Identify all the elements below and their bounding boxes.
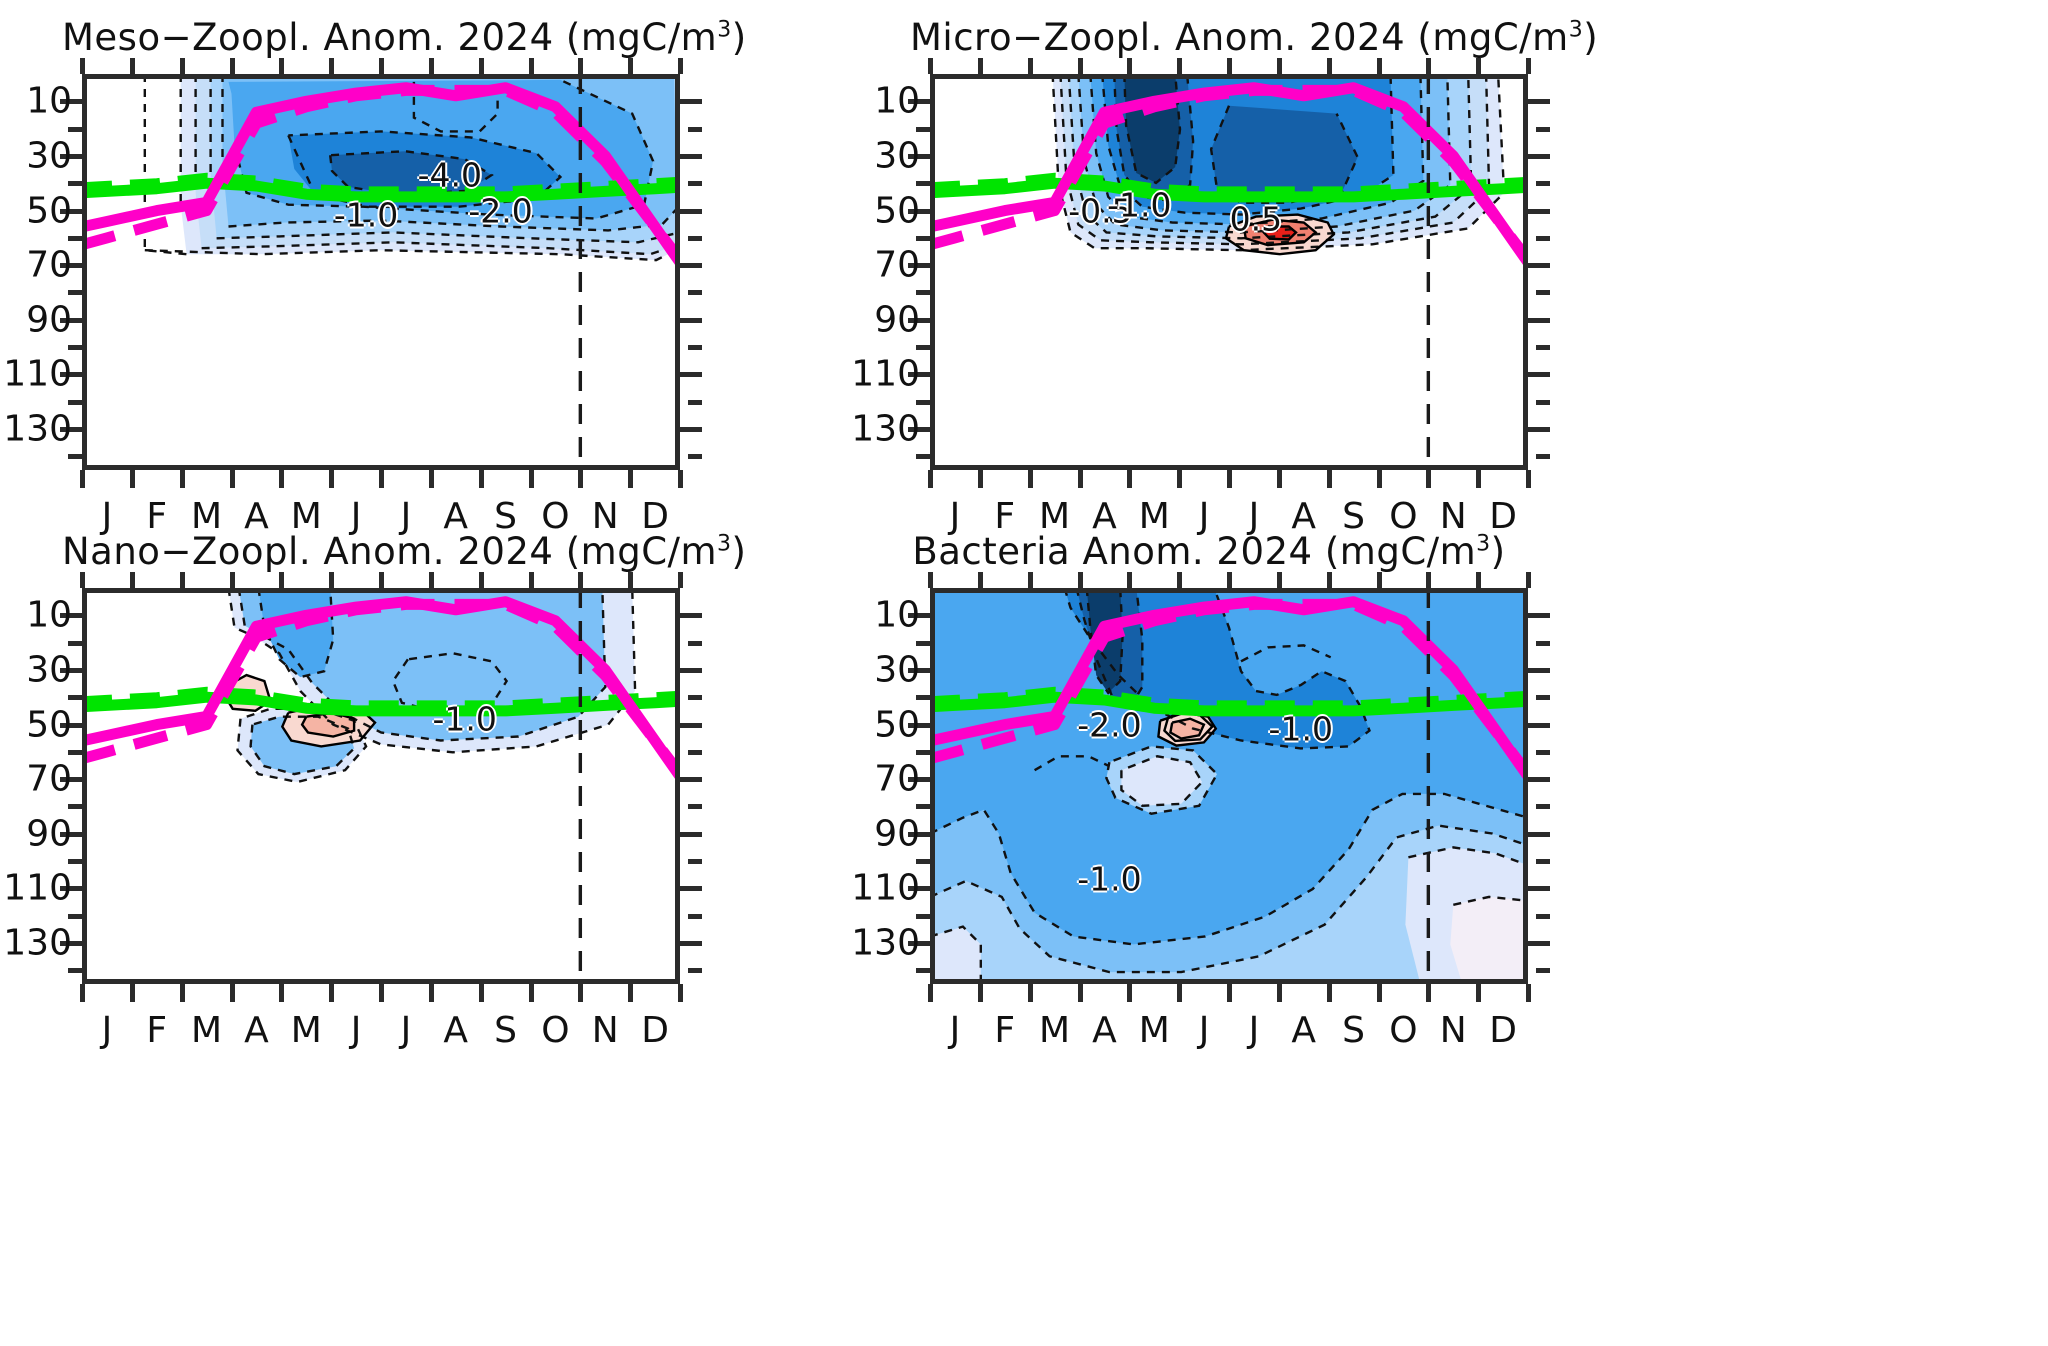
y-tick-major-right [680,154,702,159]
x-tick-bottom [1227,470,1232,488]
y-tick-minor-right [688,750,702,755]
contour-plot-svg [930,74,1528,470]
x-tick-top [578,58,583,74]
x-tick-label: A [244,1010,269,1051]
y-tick-label: 90 [26,813,72,854]
x-tick-top [1227,572,1232,588]
x-tick-top [1078,58,1083,74]
x-tick-top [429,58,434,74]
x-tick-top [329,58,334,74]
panel-title: Micro−Zoopl. Anom. 2024 (mgC/m3) [910,16,1508,59]
y-tick-major-right [680,318,702,323]
y-tick-minor-right [688,400,702,405]
x-tick-top [479,572,484,588]
x-tick-bottom [978,984,983,1002]
panel-title-exponent: 3 [717,532,732,557]
y-tick-major-right [1528,832,1550,837]
x-tick-bottom [130,470,135,488]
x-tick-label: O [541,1010,569,1051]
x-tick-top [230,572,235,588]
panel-title-exponent: 3 [1569,18,1584,43]
x-tick-bottom [1028,984,1033,1002]
y-tick-label: 50 [874,704,920,745]
y-tick-major-right [1528,209,1550,214]
contour-canvas [930,588,1528,984]
x-tick-bottom [429,984,434,1002]
contour-label: -1.0 [433,699,497,738]
x-tick-top [1377,58,1382,74]
y-tick-minor-right [1536,181,1550,186]
x-tick-bottom [80,470,85,488]
x-tick-bottom [1426,984,1431,1002]
y-tick-minor-right [688,914,702,919]
y-tick-minor-right [688,454,702,459]
plot-area: -2.0-1.0-1.0 [930,588,1528,984]
y-tick-minor-right [688,804,702,809]
x-tick-label: J [1199,1010,1210,1051]
x-tick-label: F [994,1010,1015,1051]
panel-title-text: Nano−Zoopl. Anom. 2024 (mgC/m [62,530,717,573]
x-tick-label: M [191,1010,222,1051]
x-tick-top [279,58,284,74]
contour-label: -4.0 [418,155,482,194]
y-tick-major-right [680,886,702,891]
contour-label: -1.0 [1269,709,1333,748]
y-tick-minor-right [1536,236,1550,241]
x-tick-label: S [494,1010,517,1051]
x-tick-top [1227,58,1232,74]
x-tick-bottom [230,984,235,1002]
x-tick-top [1526,58,1531,74]
x-tick-bottom [578,984,583,1002]
x-tick-label: N [1440,1010,1467,1051]
x-tick-top [1476,58,1481,74]
x-tick-bottom [1127,470,1132,488]
y-tick-minor-right [688,236,702,241]
y-tick-major-right [680,941,702,946]
y-tick-label: 130 [851,409,920,450]
y-tick-major-right [1528,427,1550,432]
contour-canvas [930,74,1528,470]
panel-title-text: Bacteria Anom. 2024 (mgC/m [912,530,1476,573]
x-tick-bottom [329,984,334,1002]
y-tick-minor-right [1536,750,1550,755]
x-tick-bottom [230,470,235,488]
panel-title-close-paren: ) [732,16,747,59]
x-tick-top [678,572,683,588]
y-tick-major-right [1528,613,1550,618]
y-tick-minor-right [688,695,702,700]
x-tick-top [628,58,633,74]
x-tick-bottom [1377,470,1382,488]
x-tick-bottom [928,470,933,488]
y-tick-major-right [680,668,702,673]
x-tick-top [130,58,135,74]
y-tick-major-right [1528,668,1550,673]
x-tick-label: N [592,1010,619,1051]
y-tick-label: 30 [874,649,920,690]
x-tick-label: O [1389,1010,1417,1051]
contour-label: -1.0 [1107,185,1171,224]
y-tick-minor-right [1536,968,1550,973]
plot-area: -1.0 [82,588,680,984]
x-tick-label: A [1092,1010,1117,1051]
x-tick-bottom [928,984,933,1002]
contour-label: -2.0 [468,191,532,230]
x-tick-top [1127,58,1132,74]
x-tick-top [928,58,933,74]
y-tick-label: 70 [26,245,72,286]
x-tick-bottom [1177,984,1182,1002]
y-tick-major-right [680,99,702,104]
x-tick-top [1078,572,1083,588]
x-tick-bottom [1377,984,1382,1002]
y-tick-major-right [680,777,702,782]
y-tick-label: 70 [874,759,920,800]
x-tick-top [279,572,284,588]
x-tick-top [230,58,235,74]
x-tick-bottom [479,984,484,1002]
y-tick-major-right [1528,941,1550,946]
contour-label: -1.0 [334,195,398,234]
x-tick-top [529,58,534,74]
y-tick-minor-right [688,641,702,646]
x-tick-bottom [1227,984,1232,1002]
x-tick-top [1277,58,1282,74]
x-tick-bottom [279,470,284,488]
y-tick-label: 110 [851,354,920,395]
panel-title-exponent: 3 [1476,532,1491,557]
x-tick-top [628,572,633,588]
y-tick-minor-right [1536,345,1550,350]
x-tick-bottom [628,470,633,488]
filled-contour-bands [930,588,1528,984]
y-tick-minor-right [1536,859,1550,864]
y-tick-major-right [1528,99,1550,104]
x-tick-bottom [1127,984,1132,1002]
x-tick-top [678,58,683,74]
contour-plot-svg [82,588,680,984]
y-axis: 1030507090110130 [834,74,920,470]
x-tick-top [80,58,85,74]
y-tick-label: 130 [3,923,72,964]
x-tick-bottom [628,984,633,1002]
y-tick-label: 10 [874,595,920,636]
x-tick-top [329,572,334,588]
y-tick-major-right [1528,372,1550,377]
y-tick-label: 70 [874,245,920,286]
y-tick-label: 110 [3,868,72,909]
contour-plot-svg [82,74,680,470]
x-tick-bottom [529,470,534,488]
y-tick-label: 50 [26,190,72,231]
y-tick-major-right [680,427,702,432]
x-tick-bottom [180,984,185,1002]
x-tick-label: A [443,1010,468,1051]
y-tick-minor-right [688,859,702,864]
y-tick-minor-right [1536,914,1550,919]
x-tick-bottom [80,984,85,1002]
contour-label: 0.5 [1230,199,1282,238]
x-tick-bottom [1078,984,1083,1002]
x-tick-label: J [351,1010,362,1051]
y-tick-label: 30 [26,649,72,690]
panel-title-close-paren: ) [732,530,747,573]
x-tick-top [978,572,983,588]
x-tick-bottom [379,984,384,1002]
nano-zoopl-panel: Nano−Zoopl. Anom. 2024 (mgC/m3)-1.010305… [82,588,680,984]
y-tick-major-right [680,613,702,618]
x-tick-bottom [329,470,334,488]
y-axis: 1030507090110130 [0,588,72,984]
x-tick-bottom [379,470,384,488]
y-tick-minor-right [688,345,702,350]
plot-area: -0.5-1.00.5 [930,74,1528,470]
x-tick-label: D [1489,1010,1517,1051]
x-tick-bottom [1476,470,1481,488]
y-tick-minor-right [1536,127,1550,132]
x-tick-top [479,58,484,74]
x-tick-bottom [678,470,683,488]
x-tick-bottom [1426,470,1431,488]
panel-title-close-paren: ) [1491,530,1506,573]
y-tick-label: 50 [874,190,920,231]
plot-area: -4.0-1.0-2.0 [82,74,680,470]
y-tick-minor-right [1536,454,1550,459]
x-tick-top [180,58,185,74]
y-tick-label: 10 [26,595,72,636]
x-tick-bottom [1177,470,1182,488]
y-tick-label: 70 [26,759,72,800]
x-tick-label: J [401,1010,412,1051]
x-tick-bottom [180,470,185,488]
y-tick-minor-right [688,181,702,186]
x-tick-label: M [1139,1010,1170,1051]
y-tick-minor-right [1536,804,1550,809]
x-tick-top [1526,572,1531,588]
y-tick-label: 130 [3,409,72,450]
y-tick-major-right [1528,263,1550,268]
x-tick-top [1177,572,1182,588]
contour-canvas [82,588,680,984]
bacteria-panel: Bacteria Anom. 2024 (mgC/m3)-2.0-1.0-1.0… [930,588,1528,984]
x-tick-label: J [950,1010,961,1051]
x-tick-top [1277,572,1282,588]
x-tick-bottom [1327,470,1332,488]
x-tick-top [429,572,434,588]
x-tick-top [928,572,933,588]
y-tick-label: 110 [3,354,72,395]
y-tick-major-right [680,263,702,268]
y-tick-label: 10 [26,81,72,122]
x-tick-bottom [429,470,434,488]
x-tick-label: A [1291,1010,1316,1051]
x-tick-top [1426,58,1431,74]
x-tick-label: S [1342,1010,1365,1051]
contour-canvas [82,74,680,470]
x-tick-bottom [1028,470,1033,488]
figure-root: Meso−Zoopl. Anom. 2024 (mgC/m3)-4.0-1.0-… [0,0,2048,1346]
y-tick-major-right [680,832,702,837]
y-tick-major-right [1528,318,1550,323]
y-axis: 1030507090110130 [0,74,72,470]
y-tick-major-right [680,372,702,377]
x-tick-bottom [1526,470,1531,488]
x-tick-label: J [1249,1010,1260,1051]
meso-zoopl-panel: Meso−Zoopl. Anom. 2024 (mgC/m3)-4.0-1.0-… [82,74,680,470]
y-tick-major-right [1528,886,1550,891]
x-tick-top [379,58,384,74]
y-tick-minor-right [688,290,702,295]
x-tick-top [1327,58,1332,74]
panel-title: Nano−Zoopl. Anom. 2024 (mgC/m3) [62,530,660,573]
x-tick-bottom [1277,984,1282,1002]
x-tick-top [1426,572,1431,588]
y-tick-major-right [680,723,702,728]
contour-label: -1.0 [1077,860,1141,899]
x-tick-bottom [279,984,284,1002]
x-tick-bottom [1078,470,1083,488]
y-tick-major-right [1528,777,1550,782]
x-tick-top [578,572,583,588]
x-tick-bottom [1526,984,1531,1002]
y-tick-label: 50 [26,704,72,745]
x-tick-top [1028,572,1033,588]
x-tick-label: M [1039,1010,1070,1051]
y-tick-label: 90 [874,813,920,854]
x-tick-top [130,572,135,588]
y-axis: 1030507090110130 [834,588,920,984]
panel-title: Meso−Zoopl. Anom. 2024 (mgC/m3) [62,16,660,59]
x-tick-top [1377,572,1382,588]
x-axis: JFMAMJJASOND [82,1010,680,1058]
y-tick-minor-right [688,127,702,132]
panel-title-exponent: 3 [717,18,732,43]
x-tick-bottom [130,984,135,1002]
y-tick-label: 30 [26,135,72,176]
micro-zoopl-panel: Micro−Zoopl. Anom. 2024 (mgC/m3)-0.5-1.0… [930,74,1528,470]
x-tick-bottom [578,470,583,488]
x-tick-bottom [678,984,683,1002]
x-tick-label: F [146,1010,167,1051]
x-tick-top [80,572,85,588]
y-tick-label: 30 [874,135,920,176]
y-tick-label: 130 [851,923,920,964]
x-tick-top [529,572,534,588]
x-tick-top [1327,572,1332,588]
contour-label: -2.0 [1077,705,1141,744]
panel-title: Bacteria Anom. 2024 (mgC/m3) [910,530,1508,573]
y-tick-major-right [1528,154,1550,159]
x-tick-top [1177,58,1182,74]
y-tick-major-right [1528,723,1550,728]
x-tick-top [1476,572,1481,588]
x-tick-bottom [1327,984,1332,1002]
x-tick-top [1028,58,1033,74]
y-tick-minor-right [688,968,702,973]
x-axis: JFMAMJJASOND [930,1010,1528,1058]
y-tick-label: 90 [26,299,72,340]
y-tick-label: 10 [874,81,920,122]
y-tick-minor-right [1536,695,1550,700]
panel-title-close-paren: ) [1583,16,1598,59]
contour-plot-svg [930,588,1528,984]
panel-title-text: Micro−Zoopl. Anom. 2024 (mgC/m [910,16,1569,59]
x-tick-bottom [1476,984,1481,1002]
x-tick-bottom [1277,470,1282,488]
x-tick-label: M [291,1010,322,1051]
x-tick-bottom [479,470,484,488]
x-tick-bottom [529,984,534,1002]
y-tick-label: 90 [874,299,920,340]
y-tick-label: 110 [851,868,920,909]
x-tick-top [379,572,384,588]
x-tick-bottom [978,470,983,488]
y-tick-major-right [680,209,702,214]
y-tick-minor-right [1536,641,1550,646]
panel-title-text: Meso−Zoopl. Anom. 2024 (mgC/m [62,16,717,59]
y-tick-minor-right [1536,290,1550,295]
x-tick-label: D [641,1010,669,1051]
x-tick-top [1127,572,1132,588]
x-tick-top [180,572,185,588]
x-tick-top [978,58,983,74]
y-tick-minor-right [1536,400,1550,405]
x-tick-label: J [102,1010,113,1051]
